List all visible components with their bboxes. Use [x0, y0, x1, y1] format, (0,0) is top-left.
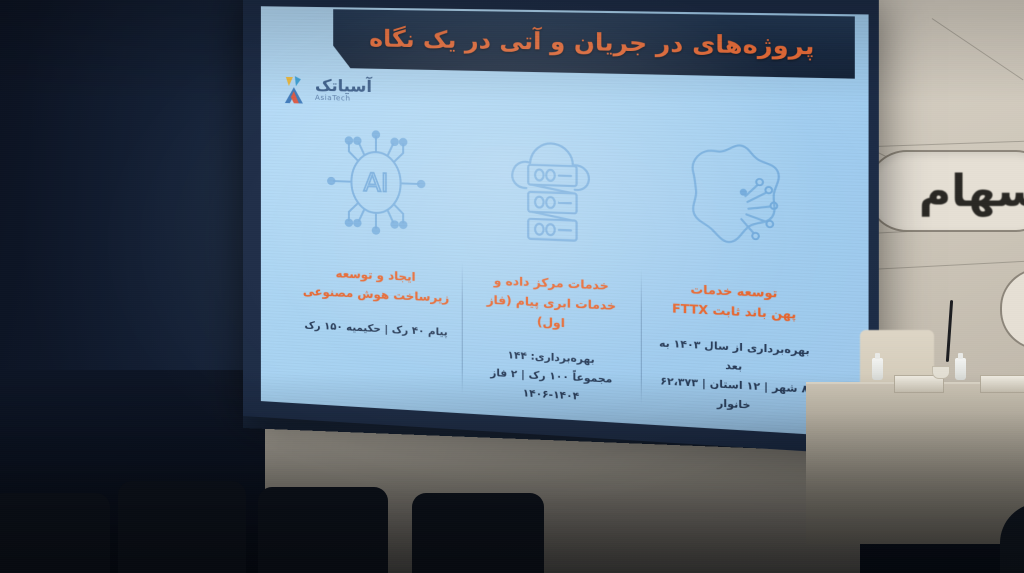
chair-back: [258, 487, 388, 573]
project-card-meta-line1: پیام ۴۰ رک | حکیمیه ۱۵۰ رک: [304, 317, 447, 343]
project-card-title: توسعه خدمات پهن باند ثابت FTTX: [672, 279, 796, 325]
slide-title-banner: پروژه‌های در جریان و آتی در یک نگاه: [333, 9, 855, 78]
water-bottle: [872, 358, 883, 380]
projection-screen-frame: پروژه‌های در جریان و آتی در یک نگاه آسیا…: [243, 0, 879, 456]
project-card-title: ایجاد و توسعه زیرساخت هوش مصنوعی: [303, 263, 449, 308]
card-divider: [462, 261, 463, 393]
svg-text:AI: AI: [363, 167, 388, 197]
project-card-meta-line2: مجموعاً ۱۰۰ رک | ۲ فاز ۱۴۰۴-۱۴۰۶: [473, 364, 630, 410]
projection-screen-surface: پروژه‌های در جریان و آتی در یک نگاه آسیا…: [261, 6, 869, 438]
wall-sign-badge: سهام: [866, 150, 1024, 232]
project-card-meta: بهره‌برداری: ۱۴۴ مجموعاً ۱۰۰ رک | ۲ فاز …: [473, 345, 630, 410]
panel-table: [806, 382, 1024, 544]
chair-back: [412, 493, 544, 573]
brand-wordmark: آسیاتک AsiaTech: [315, 78, 372, 105]
project-card-datacenter: خدمات مرکز داده و خدمات ابری پیام (فاز ا…: [473, 108, 630, 410]
project-card-title-line2: خدمات ابری پیام (فاز اول): [473, 290, 630, 337]
cup: [932, 366, 950, 379]
conference-photo-scene: سهام پروژه‌های در جریان و آتی در یک نگاه…: [0, 0, 1024, 573]
name-placard: [980, 375, 1024, 393]
cloud-server-rack-icon: [500, 108, 602, 269]
project-cards: توسعه خدمات پهن باند ثابت FTTX بهره‌بردا…: [301, 103, 816, 420]
iran-map-fiber-network-icon: [679, 113, 790, 278]
ai-chip-brain-icon: AI: [317, 104, 436, 262]
project-card-meta-line2: ۸ شهر | ۱۲ استان | ۶۲،۳۷۳ خانوار: [653, 372, 816, 419]
project-card-meta: پیام ۴۰ رک | حکیمیه ۱۵۰ رک: [304, 317, 447, 343]
slide-title: پروژه‌های در جریان و آتی در یک نگاه: [369, 26, 814, 61]
wall-hairline: [932, 18, 1024, 80]
asiatech-logo-icon: [279, 73, 309, 108]
water-bottle: [955, 358, 966, 380]
chair-back: [0, 493, 110, 573]
project-card-meta: بهره‌برداری از سال ۱۴۰۳ به بعد ۸ شهر | ۱…: [653, 335, 816, 420]
card-divider: [641, 269, 642, 404]
project-card-title: خدمات مرکز داده و خدمات ابری پیام (فاز ا…: [473, 270, 630, 336]
project-card-title-line2: پهن باند ثابت FTTX: [672, 299, 796, 325]
project-card-ai: AI ایجاد و توسعه زیرساخت هوش مصنوعی پیام…: [301, 103, 451, 399]
presentation-slide: پروژه‌های در جریان و آتی در یک نگاه آسیا…: [261, 6, 869, 438]
chair-back: [118, 481, 246, 573]
brand-name-fa: آسیاتک: [315, 78, 372, 95]
wall-sign-text: سهام: [919, 166, 1024, 217]
project-card-fttx: توسعه خدمات پهن باند ثابت FTTX بهره‌بردا…: [653, 112, 816, 421]
